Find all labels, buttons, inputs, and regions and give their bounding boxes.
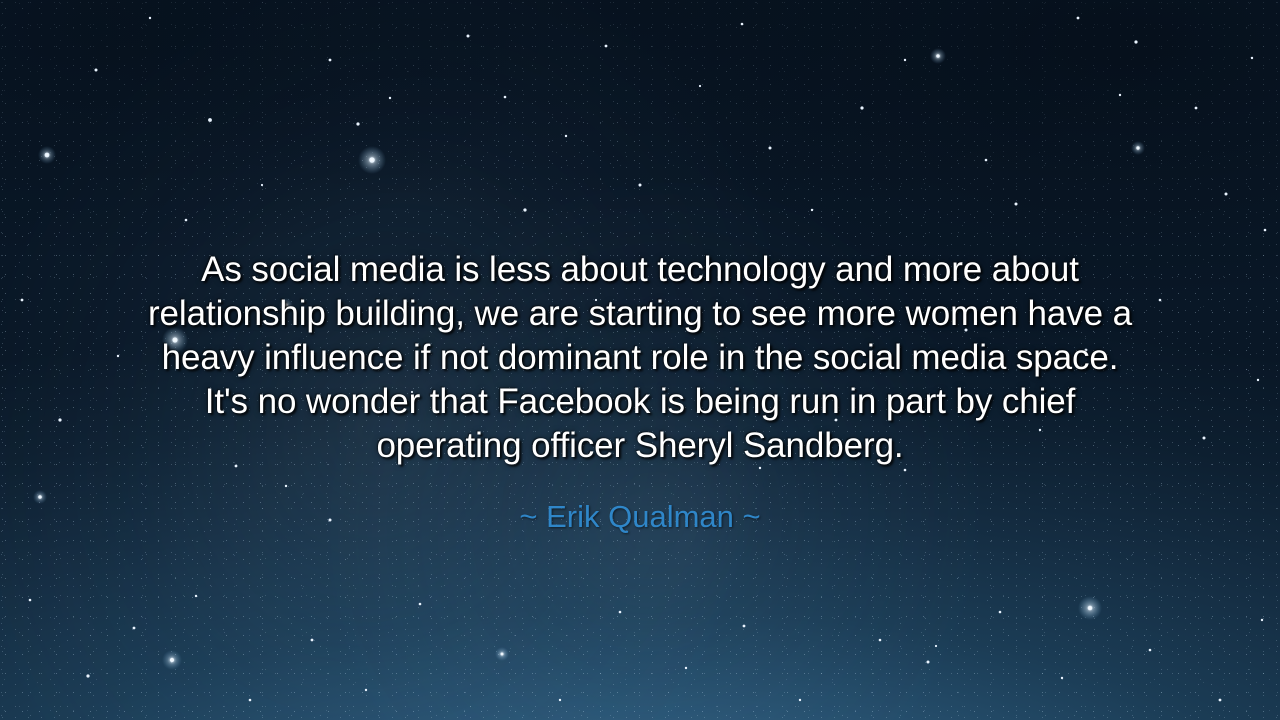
quote-line: relationship building, we are starting t… xyxy=(60,292,1220,336)
attribution-text: ~ Erik Qualman ~ xyxy=(519,499,760,534)
quote-text-block: As social media is less about technology… xyxy=(0,248,1280,468)
quote-line: It's no wonder that Facebook is being ru… xyxy=(60,380,1220,424)
quote-line: heavy influence if not dominant role in … xyxy=(60,336,1220,380)
attribution: ~ Erik Qualman ~ xyxy=(0,498,1280,536)
quote-card: As social media is less about technology… xyxy=(0,0,1280,720)
quote-line: As social media is less about technology… xyxy=(60,248,1220,292)
quote-line: operating officer Sheryl Sandberg. xyxy=(60,424,1220,468)
